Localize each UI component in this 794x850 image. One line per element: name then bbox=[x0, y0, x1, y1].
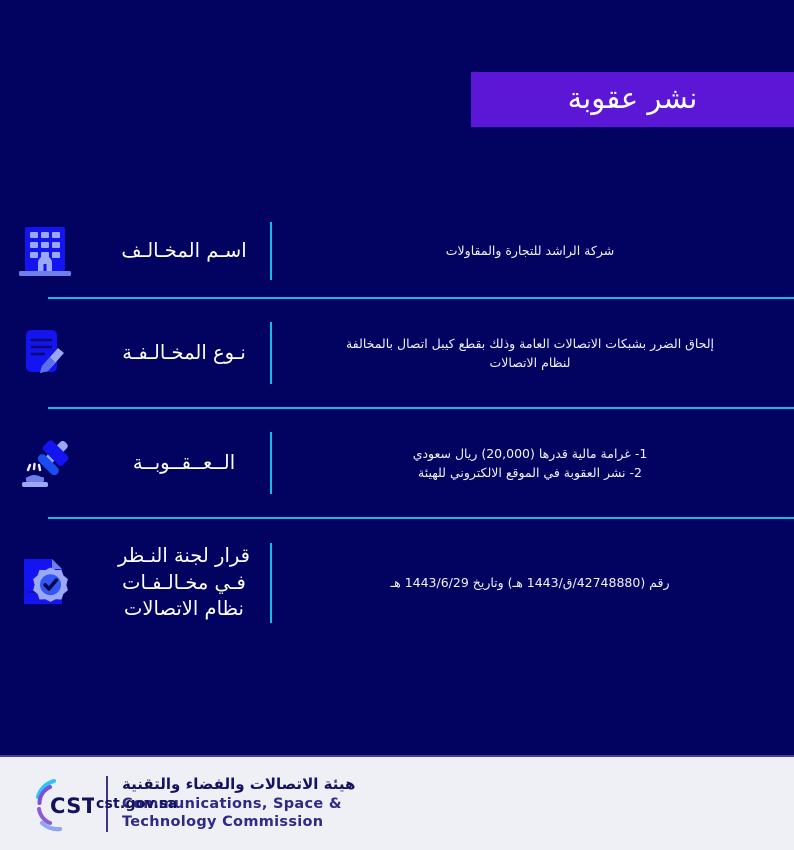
table-row-committee-decision: قرار لجنة النـظر فـي مخـالـفـات نظام الا… bbox=[0, 519, 794, 647]
document-check-gear-icon bbox=[0, 552, 90, 614]
row-label-committee-decision: قرار لجنة النـظر فـي مخـالـفـات نظام الا… bbox=[90, 543, 270, 624]
footer: CST هيئة الاتصالات والفضاء والتقنية Comm… bbox=[0, 755, 794, 850]
row-value-penalty: 1- غرامة مالية قدرها (20,000) ريال سعودي… bbox=[272, 444, 794, 483]
row-value-committee-decision: رقم (42748880/ق/1443 هـ) وتاريخ 1443/6/2… bbox=[272, 573, 794, 592]
row-value-line: 1- غرامة مالية قدرها (20,000) ريال سعودي bbox=[290, 444, 770, 463]
row-label-violation-type: نـوع المخـالـفـة bbox=[90, 340, 270, 367]
row-value-line: رقم (42748880/ق/1443 هـ) وتاريخ 1443/6/2… bbox=[290, 573, 770, 592]
row-value-violator-name: شركة الراشد للتجارة والمقاولات bbox=[272, 241, 794, 260]
cst-logo-text: CST bbox=[50, 794, 94, 818]
row-label-line: فـي مخـالـفـات bbox=[98, 570, 270, 597]
row-value-line: 2- نشر العقوبة في الموقع الالكتروني للهي… bbox=[290, 463, 770, 482]
row-label-penalty: الــعــقــوبــة bbox=[90, 450, 270, 477]
row-label-violator-name: اسـم المخـالـف bbox=[90, 238, 270, 265]
row-divider bbox=[270, 322, 272, 384]
row-divider bbox=[270, 222, 272, 280]
brand-name-arabic: هيئة الاتصالات والفضاء والتقنية bbox=[122, 775, 355, 794]
header-banner: نشر عقوبة bbox=[471, 72, 794, 127]
cst-logo-icon: CST bbox=[30, 773, 94, 835]
row-divider bbox=[270, 432, 272, 494]
building-icon bbox=[0, 220, 90, 282]
gavel-icon bbox=[0, 432, 90, 494]
brand-name-english-line2: Technology Commission bbox=[122, 813, 355, 832]
row-value-violation-type: إلحاق الضرر بشبكات الاتصالات العامة وذلك… bbox=[272, 334, 794, 373]
footer-brand: CST هيئة الاتصالات والفضاء والتقنية Comm… bbox=[30, 773, 355, 835]
table-row-violator-name: اسـم المخـالـف شركة الراشد للتجارة والمق… bbox=[0, 205, 794, 297]
penalty-publication-poster: نشر عقوبة bbox=[0, 0, 794, 850]
row-label-line: قرار لجنة النـظر bbox=[98, 543, 270, 570]
info-rows: اسـم المخـالـف شركة الراشد للتجارة والمق… bbox=[0, 205, 794, 647]
row-value-line: شركة الراشد للتجارة والمقاولات bbox=[290, 241, 770, 260]
row-value-line: إلحاق الضرر بشبكات الاتصالات العامة وذلك… bbox=[290, 334, 770, 353]
row-value-line: لنظام الاتصالات bbox=[290, 353, 770, 372]
table-row-penalty: الــعــقــوبــة 1- غرامة مالية قدرها (20… bbox=[0, 409, 794, 517]
page-title: نشر عقوبة bbox=[568, 84, 698, 116]
row-divider bbox=[270, 543, 272, 623]
table-row-violation-type: نـوع المخـالـفـة إلحاق الضرر بشبكات الات… bbox=[0, 299, 794, 407]
row-label-line: نظام الاتصالات bbox=[98, 596, 270, 623]
document-pen-icon bbox=[0, 322, 90, 384]
footer-website-url[interactable]: cst.gov.sa bbox=[96, 796, 177, 812]
